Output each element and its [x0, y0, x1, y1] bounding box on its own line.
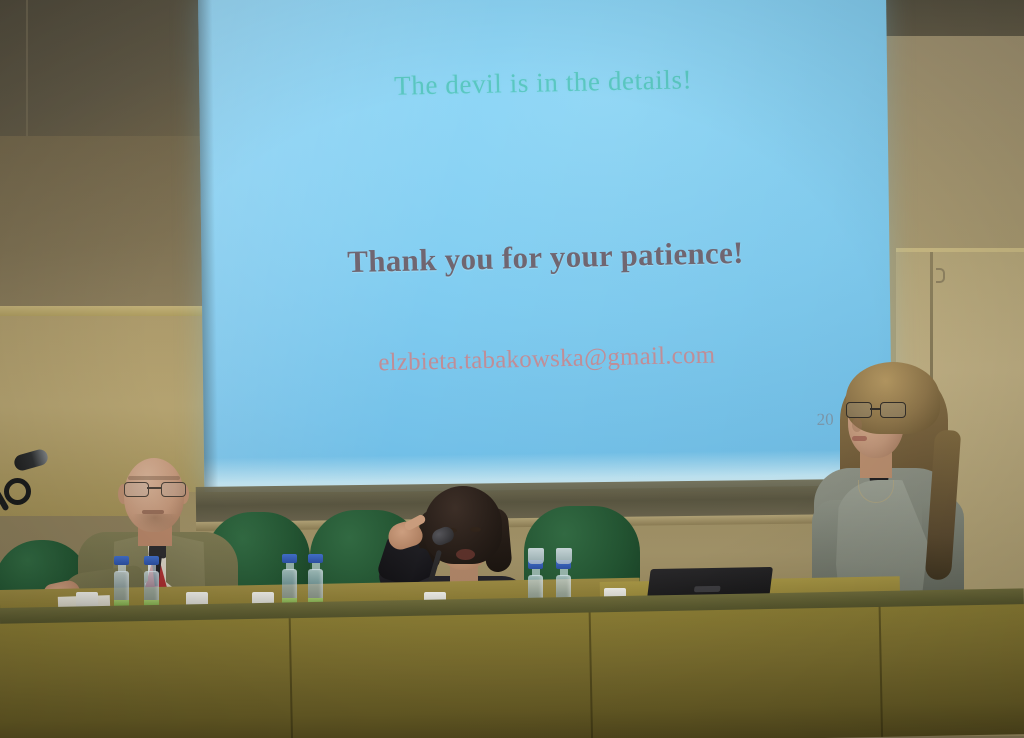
desk-front-panel	[0, 604, 1024, 738]
bottle-cap	[282, 554, 297, 563]
standing-mouth	[852, 436, 867, 441]
bottle-cap	[144, 556, 159, 565]
man-lens-left	[124, 482, 149, 497]
slide-thanks-message: Thank you for your patience!	[201, 231, 890, 283]
wall-upper-left	[0, 0, 232, 152]
desk-seam-2	[589, 612, 593, 738]
slide-number: 20	[816, 410, 833, 430]
cabinet-handle[interactable]	[936, 268, 945, 283]
slide-title: The devil is in the details!	[199, 60, 888, 106]
man-glasses-bridge	[147, 487, 161, 489]
paper-cup-icon-inverted-2	[556, 548, 572, 564]
standing-lens-right	[880, 402, 906, 418]
eyeglasses-icon-standing	[846, 402, 904, 416]
slide-email-address: elzbieta.tabakowska@gmail.com	[203, 337, 891, 381]
desk-seam-3	[879, 607, 883, 737]
speaker-mouth	[456, 549, 475, 560]
man-chin-shadow	[132, 514, 178, 532]
bottle-cap	[114, 556, 129, 565]
projection-screen: The devil is in the details! Thank you f…	[198, 0, 892, 494]
man-brow	[128, 476, 180, 480]
lecture-hall-photo: The devil is in the details! Thank you f…	[0, 0, 1024, 738]
man-lens-right	[161, 482, 186, 497]
laptop-logo	[694, 586, 721, 592]
standing-lens-left	[846, 402, 872, 418]
eyeglasses-icon	[124, 482, 184, 495]
standing-nose	[852, 418, 862, 432]
standing-glasses-bridge	[870, 408, 880, 410]
bottle-cap	[308, 554, 323, 563]
paper-cup-icon-inverted-1	[528, 548, 544, 564]
microphone-left-mount	[4, 478, 31, 505]
speaker-eye-right	[470, 527, 481, 532]
desk-seam-1	[289, 618, 293, 738]
wall-left-middle	[0, 136, 212, 312]
